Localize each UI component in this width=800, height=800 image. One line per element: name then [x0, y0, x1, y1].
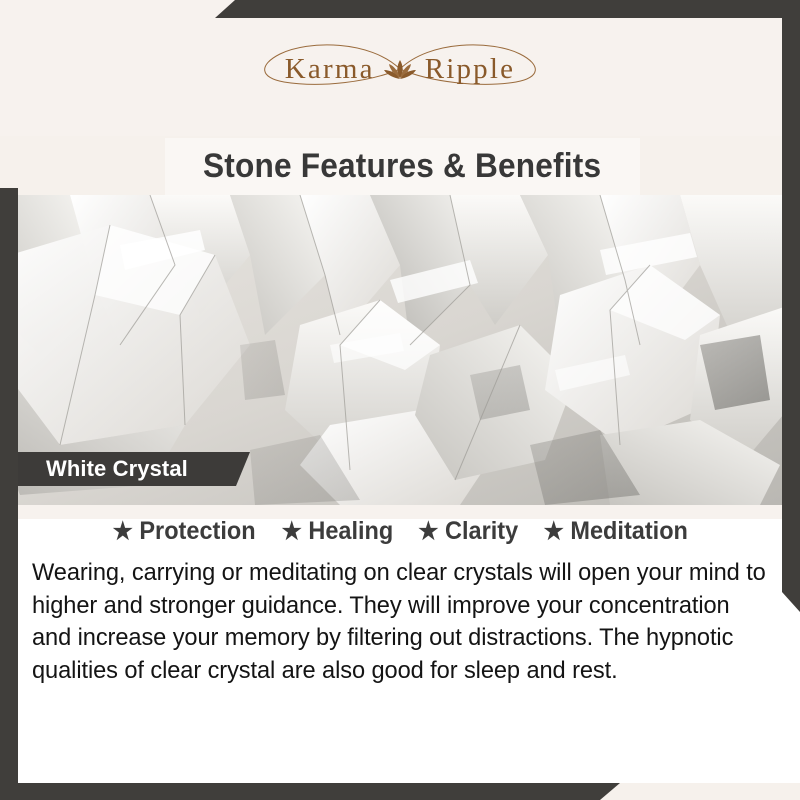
- page-title-plate: Stone Features & Benefits: [165, 138, 640, 195]
- benefit-label: Clarity: [445, 517, 518, 546]
- benefit-label: Healing: [308, 517, 393, 546]
- frame-top-bar: [215, 0, 800, 18]
- stone-name-badge: White Crystal: [18, 452, 250, 486]
- benefit-label: Meditation: [570, 517, 688, 546]
- benefit-label: Protection: [139, 517, 255, 546]
- frame-bottom-bar: [0, 783, 620, 800]
- benefits-list: ★ Protection ★ Healing ★ Clarity ★ Medit…: [18, 517, 782, 546]
- brand-name-left: Karma: [283, 53, 377, 86]
- brand-logo: Karma Ripple: [0, 38, 800, 100]
- benefit-item: ★ Protection: [112, 517, 255, 546]
- benefit-item: ★ Healing: [281, 517, 393, 546]
- benefit-item: ★ Meditation: [543, 517, 687, 546]
- stone-description: Wearing, carrying or meditating on clear…: [32, 557, 767, 687]
- content-panel: ★ Protection ★ Healing ★ Clarity ★ Medit…: [18, 505, 800, 783]
- star-icon: ★: [543, 520, 563, 544]
- page-title: Stone Features & Benefits: [203, 147, 601, 186]
- header: Karma Ripple: [0, 0, 800, 136]
- lotus-icon: [383, 56, 417, 82]
- frame-left-bar: [0, 188, 18, 800]
- star-icon: ★: [418, 520, 438, 544]
- stone-name-label: White Crystal: [46, 456, 188, 482]
- frame-right-bar: [782, 0, 800, 612]
- star-icon: ★: [112, 520, 132, 544]
- star-icon: ★: [281, 520, 301, 544]
- benefit-item: ★ Clarity: [418, 517, 518, 546]
- stone-benefits-card: Karma Ripple: [0, 0, 800, 800]
- brand-name-right: Ripple: [423, 53, 518, 86]
